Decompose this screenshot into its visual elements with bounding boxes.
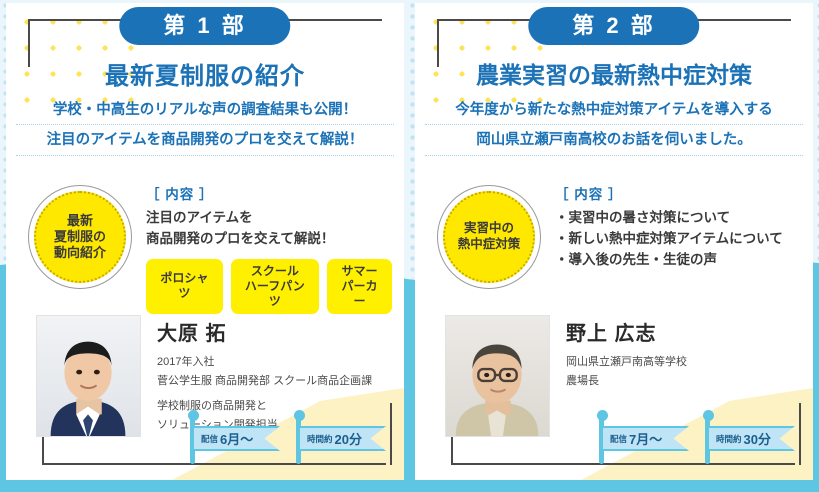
flag-badges-2: 配信 7月〜 時間約 30分 [599, 414, 797, 464]
speaker-detail: 岡山県立瀬戸南高等学校 [566, 353, 687, 372]
flag-label: 配信 [610, 433, 627, 445]
seal-inner: 最新 夏制服の 動向紹介 [34, 191, 126, 283]
seal-line: 夏制服の [54, 229, 106, 245]
flag-banner: 配信 7月〜 [603, 426, 689, 451]
lead-line: 注目のアイテムを商品開発のプロを交えて解説！ [16, 129, 394, 155]
panel-lead-1: 学校・中高生のリアルな声の調査結果も公開！ 注目のアイテムを商品開発のプロを交え… [16, 99, 394, 160]
flag-knob [703, 410, 714, 421]
speaker-portrait-icon [37, 316, 140, 436]
detail-line: 商品開発のプロを交えて解説！ [146, 229, 392, 250]
speaker-detail: 農場長 [566, 372, 687, 391]
seminar-promo-graphic: 第 1 部 最新夏制服の紹介 学校・中高生のリアルな声の調査結果も公開！ 注目の… [0, 0, 819, 492]
lead-line: 学校・中高生のリアルな声の調査結果も公開！ [16, 99, 394, 125]
flag-delivery-month-2: 配信 7月〜 [599, 414, 691, 464]
panel-part-2: 第 2 部 農業実習の最新熱中症対策 今年度から新たな熱中症対策アイテムを導入す… [415, 3, 813, 480]
panel-detail-1: ［ 内容 ］ 注目のアイテムを 商品開発のプロを交えて解説！ ポロシャツ スクー… [142, 183, 392, 314]
flag-label: 時間約 [307, 433, 333, 445]
speaker-photo-2 [445, 315, 550, 437]
flag-delivery-month-1: 配信 6月〜 [190, 414, 282, 464]
seal-inner: 実習中の 熱中症対策 [443, 191, 535, 283]
panel-title-1: 最新夏制服の紹介 [6, 56, 404, 91]
detail-line: ・実習中の暑さ対策について [555, 208, 801, 229]
detail-line: 注目のアイテムを [146, 208, 392, 229]
flag-duration-1: 時間約 20分 [296, 414, 388, 464]
flag-knob [188, 410, 199, 421]
seal-line: 最新 [67, 213, 93, 229]
speaker-name: 野上 広志 [566, 317, 687, 346]
flag-value: 6月〜 [220, 429, 253, 448]
flag-label: 配信 [201, 433, 218, 445]
speaker-portrait-icon [446, 316, 549, 436]
detail-line: ・導入後の先生・生徒の声 [555, 250, 801, 271]
seal-line: 熱中症対策 [458, 237, 521, 253]
flag-value: 30分 [744, 429, 771, 448]
part-badge-2: 第 2 部 [528, 7, 699, 45]
speaker-detail: 2017年入社 [157, 353, 372, 372]
panel-content-1: 最新 夏制服の 動向紹介 ［ 内容 ］ 注目のアイテムを 商品開発のプロを交えて… [22, 183, 392, 314]
panel-title-2: 農業実習の最新熱中症対策 [415, 56, 813, 90]
detail-heading: ［ 内容 ］ [555, 183, 801, 203]
speaker-name: 大原 拓 [157, 317, 372, 346]
flag-duration-2: 時間約 30分 [705, 414, 797, 464]
panel-container: 第 1 部 最新夏制服の紹介 学校・中高生のリアルな声の調査結果も公開！ 注目の… [0, 0, 819, 492]
panel-content-2: 実習中の 熱中症対策 ［ 内容 ］ ・実習中の暑さ対策について ・新しい熱中症対… [431, 183, 801, 295]
seal-badge-1: 最新 夏制服の 動向紹介 [22, 183, 142, 295]
speaker-photo-1 [36, 315, 141, 437]
seal-badge-2: 実習中の 熱中症対策 [431, 183, 551, 295]
tag-item: スクールハーフパンツ [231, 259, 319, 314]
flag-knob [597, 410, 608, 421]
flag-value: 7月〜 [629, 429, 662, 448]
tag-item: サマーパーカー [327, 259, 392, 314]
flag-badges-1: 配信 6月〜 時間約 20分 [190, 414, 388, 464]
flag-value: 20分 [335, 429, 362, 448]
detail-line: ・新しい熱中症対策アイテムについて [555, 229, 801, 250]
flag-label: 時間約 [716, 433, 742, 445]
panel-detail-2: ［ 内容 ］ ・実習中の暑さ対策について ・新しい熱中症対策アイテムについて ・… [551, 183, 801, 295]
lead-line: 今年度から新たな熱中症対策アイテムを導入する [425, 99, 803, 125]
part-badge-1: 第 1 部 [119, 7, 290, 45]
seal-line: 実習中の [464, 221, 514, 237]
lead-line: 岡山県立瀬戸南高校のお話を伺いました。 [425, 129, 803, 155]
flag-banner: 時間約 20分 [300, 426, 386, 451]
seal-line: 動向紹介 [54, 245, 106, 261]
flag-banner: 配信 6月〜 [194, 426, 280, 451]
detail-heading: ［ 内容 ］ [146, 183, 392, 203]
speaker-detail: 菅公学生服 商品開発部 スクール商品企画課 [157, 372, 372, 391]
tag-item: ポロシャツ [146, 259, 223, 314]
tag-list-1: ポロシャツ スクールハーフパンツ サマーパーカー [146, 259, 392, 314]
panel-part-1: 第 1 部 最新夏制服の紹介 学校・中高生のリアルな声の調査結果も公開！ 注目の… [6, 3, 404, 480]
flag-knob [294, 410, 305, 421]
flag-banner: 時間約 30分 [709, 426, 795, 451]
panel-lead-2: 今年度から新たな熱中症対策アイテムを導入する 岡山県立瀬戸南高校のお話を伺いまし… [425, 99, 803, 160]
